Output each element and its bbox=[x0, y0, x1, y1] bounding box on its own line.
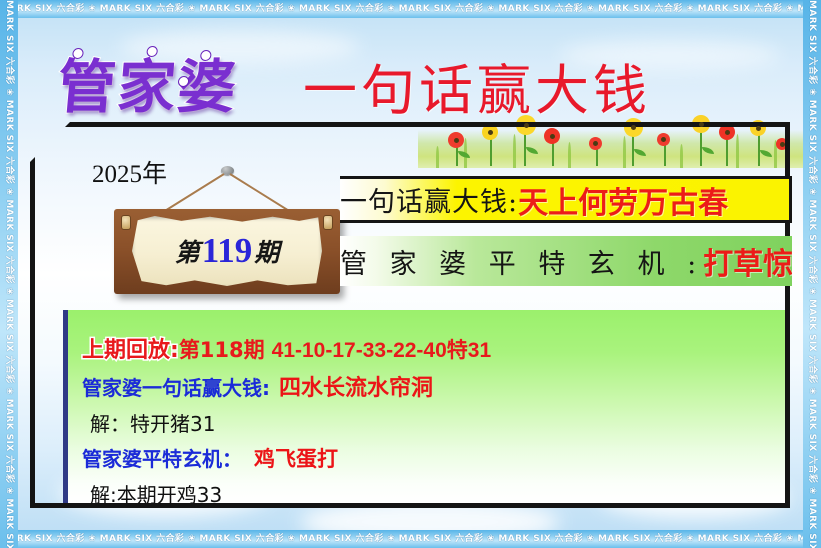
phrase-answer: 解：特开猪31 bbox=[82, 408, 215, 437]
xuanji-label: 管家婆平特玄机： bbox=[82, 443, 242, 472]
marquee-border-bottom: MARK SIX 六合彩 ❀ MARK SIX 六合彩 ❀ MARK SIX 六… bbox=[0, 530, 821, 548]
marquee-text-top: MARK SIX 六合彩 ❀ MARK SIX 六合彩 ❀ MARK SIX 六… bbox=[0, 4, 821, 14]
xuanji-answer: 解:本期开鸡33 bbox=[82, 479, 222, 508]
marquee-border-left: MARK SIX 六合彩 ❀ MARK SIX 六合彩 ❀ MARK SIX 六… bbox=[0, 0, 18, 548]
phrase-row: 管家婆一句话赢大钱: 四水长流水帘洞 bbox=[82, 370, 785, 402]
banner-xuanji: 管 家 婆 平 特 玄 机 : 打草惊蛇 bbox=[340, 236, 792, 286]
banner-xuanji-label: 管 家 婆 平 特 玄 机 : bbox=[340, 242, 703, 281]
banner-phrase-value: 天上何劳万古春 bbox=[518, 178, 728, 222]
content-panel: 上期回放: 第118期 41-10-17-33-22-40特31 管家婆一句话赢… bbox=[63, 310, 785, 503]
replay-label: 上期回放: bbox=[82, 332, 179, 364]
marquee-text-bottom: MARK SIX 六合彩 ❀ MARK SIX 六合彩 ❀ MARK SIX 六… bbox=[0, 534, 821, 544]
banner-phrase-label: 一句话赢大钱: bbox=[340, 180, 518, 219]
banner-phrase: 一句话赢大钱: 天上何劳万古春 bbox=[340, 176, 792, 223]
screw-icon bbox=[323, 215, 333, 230]
replay-issue: 第118期 bbox=[179, 334, 265, 364]
issue-suffix: 期 bbox=[254, 233, 279, 269]
phrase-answer-row: 解：特开猪31 bbox=[82, 408, 785, 437]
issue-prefix: 第 bbox=[175, 233, 200, 269]
xuanji-value: 鸡飞蛋打 bbox=[242, 443, 338, 473]
issue-plaque: 第 119 期 bbox=[114, 209, 340, 294]
brand-logo-text: 管家婆 bbox=[55, 53, 241, 121]
marquee-border-right: MARK SIX 六合彩 ❀ MARK SIX 六合彩 ❀ MARK SIX 六… bbox=[803, 0, 821, 548]
marquee-text-left: MARK SIX 六合彩 ❀ MARK SIX 六合彩 ❀ MARK SIX 六… bbox=[0, 0, 18, 548]
xuanji-answer-row: 解:本期开鸡33 bbox=[82, 479, 785, 508]
issue-text: 第 119 期 bbox=[132, 216, 322, 286]
replay-row: 上期回放: 第118期 41-10-17-33-22-40特31 bbox=[82, 332, 785, 364]
marquee-text-right: MARK SIX 六合彩 ❀ MARK SIX 六合彩 ❀ MARK SIX 六… bbox=[803, 0, 821, 548]
phrase-value: 四水长流水帘洞 bbox=[270, 370, 433, 402]
poster-root: 管家婆 一句话赢大钱 bbox=[0, 0, 821, 548]
screw-icon bbox=[121, 215, 131, 230]
banner-xuanji-value: 打草惊蛇 bbox=[703, 239, 792, 283]
phrase-label: 管家婆一句话赢大钱: bbox=[82, 372, 270, 401]
replay-numbers: 41-10-17-33-22-40特31 bbox=[265, 334, 491, 364]
brand-logo: 管家婆 bbox=[54, 40, 241, 124]
marquee-border-top: MARK SIX 六合彩 ❀ MARK SIX 六合彩 ❀ MARK SIX 六… bbox=[0, 0, 821, 18]
year-label: 2025年 bbox=[92, 154, 167, 190]
issue-number: 119 bbox=[200, 231, 255, 271]
xuanji-row: 管家婆平特玄机： 鸡飞蛋打 bbox=[82, 443, 785, 473]
poster-stage: 管家婆 一句话赢大钱 bbox=[18, 18, 803, 530]
